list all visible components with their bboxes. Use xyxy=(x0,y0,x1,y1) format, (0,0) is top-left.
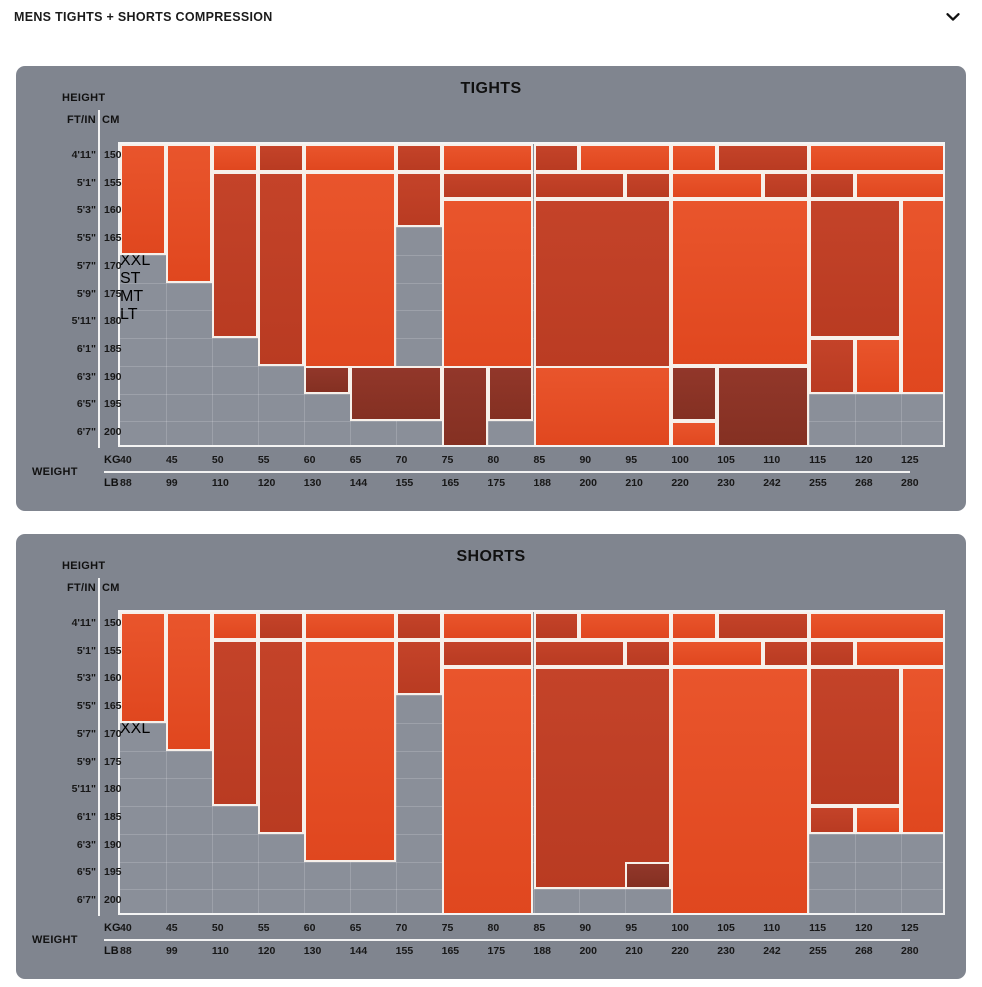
size-region-m[interactable] xyxy=(396,144,442,172)
height-axis-label: HEIGHT xyxy=(62,560,105,572)
size-region-l[interactable] xyxy=(625,640,671,668)
weight-lb-tick: 210 xyxy=(625,945,665,957)
size-region-m[interactable] xyxy=(304,640,396,862)
height-cm-tick: 175 xyxy=(104,756,132,768)
weight-lb-tick: 255 xyxy=(809,945,849,957)
weight-lb-tick: 110 xyxy=(212,945,252,957)
height-cm-tick: 150 xyxy=(104,617,132,629)
size-region-xs[interactable] xyxy=(212,612,258,640)
weight-lb-tick: 130 xyxy=(304,945,344,957)
size-region-xl[interactable] xyxy=(671,612,717,640)
height-axis-divider xyxy=(98,110,100,448)
weight-lb-tick: 88 xyxy=(120,477,160,489)
size-region-m[interactable] xyxy=(442,612,534,640)
weight-lb-tick: 165 xyxy=(442,945,482,957)
weight-lb-tick: 220 xyxy=(671,945,711,957)
height-axis-label: HEIGHT xyxy=(62,92,105,104)
chevron-down-icon[interactable] xyxy=(942,6,964,28)
weight-kg-tick: 70 xyxy=(396,454,436,466)
weight-lb-tick: 268 xyxy=(855,477,895,489)
height-ftin-tick: 4'11" xyxy=(40,149,96,161)
height-cm-tick: 180 xyxy=(104,783,132,795)
height-cm-tick: 165 xyxy=(104,232,132,244)
weight-lb-tick: 175 xyxy=(488,945,528,957)
height-ftin-tick: 5'9" xyxy=(40,756,96,768)
kg-row-header: KG xyxy=(104,922,121,934)
size-region-s[interactable] xyxy=(258,612,304,640)
size-region-xl[interactable] xyxy=(671,640,763,668)
tights-chart-title: TIGHTS xyxy=(16,80,966,98)
size-region-mt[interactable] xyxy=(534,366,672,447)
lb-row-header: LB xyxy=(104,945,119,957)
size-region-m[interactable] xyxy=(442,144,534,172)
size-region-m[interactable] xyxy=(442,667,534,915)
lb-row-header: LB xyxy=(104,477,119,489)
size-region-l[interactable] xyxy=(625,862,671,890)
weight-kg-tick: 80 xyxy=(488,454,528,466)
weight-axis-divider xyxy=(104,939,910,941)
weight-kg-tick: 100 xyxy=(671,454,711,466)
weight-lb-tick: 155 xyxy=(396,945,436,957)
weight-lb-tick: 120 xyxy=(258,945,298,957)
size-region-l[interactable] xyxy=(534,144,580,172)
weight-lb-tick: 120 xyxy=(258,477,298,489)
gridline xyxy=(120,421,943,422)
size-region-lt[interactable] xyxy=(671,366,717,421)
height-ftin-tick: 6'7" xyxy=(40,894,96,906)
size-region-xl[interactable] xyxy=(763,172,809,200)
size-region-l[interactable] xyxy=(579,144,671,172)
size-region-s[interactable] xyxy=(258,144,304,172)
height-cm-tick: 160 xyxy=(104,672,132,684)
size-region-m[interactable] xyxy=(442,640,534,668)
height-cm-tick: 185 xyxy=(104,343,132,355)
height-cm-tick: 170 xyxy=(104,260,132,272)
weight-lb-tick: 99 xyxy=(166,945,206,957)
weight-kg-tick: 70 xyxy=(396,922,436,934)
size-region-xxl[interactable] xyxy=(901,199,945,393)
weight-lb-tick: 188 xyxy=(534,945,574,957)
weight-kg-tick: 105 xyxy=(717,922,757,934)
weight-kg-tick: 75 xyxy=(442,922,482,934)
weight-kg-tick: 40 xyxy=(120,922,160,934)
size-region-xxl[interactable] xyxy=(809,144,945,172)
weight-kg-tick: 40 xyxy=(120,454,160,466)
size-region-xxl[interactable] xyxy=(809,199,901,338)
size-region-mt[interactable] xyxy=(488,366,534,421)
kg-row-header: KG xyxy=(104,454,121,466)
weight-kg-tick: 65 xyxy=(350,454,390,466)
height-ftin-tick: 6'1" xyxy=(40,343,96,355)
size-region-l[interactable] xyxy=(534,612,580,640)
size-region-s[interactable] xyxy=(304,144,396,172)
size-region-lt[interactable] xyxy=(717,366,809,447)
weight-kg-tick: 115 xyxy=(809,454,849,466)
height-cm-tick: 190 xyxy=(104,839,132,851)
height-ftin-tick: 6'7" xyxy=(40,426,96,438)
height-cm-tick: 175 xyxy=(104,288,132,300)
height-cm-tick: 165 xyxy=(104,700,132,712)
height-ftin-tick: 5'1" xyxy=(40,645,96,657)
height-cm-tick: 195 xyxy=(104,398,132,410)
height-cm-tick: 190 xyxy=(104,371,132,383)
weight-lb-tick: 110 xyxy=(212,477,252,489)
weight-lb-tick: 268 xyxy=(855,945,895,957)
size-region-l[interactable] xyxy=(534,640,626,668)
size-region-xxl[interactable] xyxy=(855,806,901,834)
size-region-xxl[interactable] xyxy=(855,338,901,393)
shorts-size-grid[interactable]: XXSXSSMLXLXXL xyxy=(118,610,945,915)
weight-kg-tick: 125 xyxy=(901,454,941,466)
size-region-l[interactable] xyxy=(579,612,671,640)
height-ftin-tick: 5'11" xyxy=(40,783,96,795)
shorts-chart-title: SHORTS xyxy=(16,548,966,566)
weight-kg-tick: 85 xyxy=(534,922,574,934)
size-region-s[interactable] xyxy=(212,640,258,806)
size-region-st[interactable] xyxy=(304,366,350,394)
weight-lb-tick: 88 xyxy=(120,945,160,957)
weight-lb-tick: 99 xyxy=(166,477,206,489)
size-region-s[interactable] xyxy=(212,172,258,338)
weight-kg-tick: 60 xyxy=(304,922,344,934)
height-ftin-tick: 5'7" xyxy=(40,260,96,272)
page-title: MENS TIGHTS + SHORTS COMPRESSION xyxy=(14,10,273,24)
weight-kg-tick: 45 xyxy=(166,922,206,934)
weight-kg-tick: 95 xyxy=(625,922,665,934)
height-ftin-tick: 5'1" xyxy=(40,177,96,189)
ftin-column-header: FT/IN xyxy=(40,114,96,126)
height-axis-divider xyxy=(98,578,100,916)
size-region-m[interactable] xyxy=(442,199,534,393)
weight-kg-tick: 115 xyxy=(809,922,849,934)
weight-kg-tick: 110 xyxy=(763,922,803,934)
size-region-xxl[interactable] xyxy=(809,640,855,668)
weight-kg-tick: 125 xyxy=(901,922,941,934)
size-region-xl[interactable] xyxy=(671,172,763,200)
weight-kg-tick: 85 xyxy=(534,454,574,466)
cm-column-header: CM xyxy=(102,582,130,594)
ftin-column-header: FT/IN xyxy=(40,582,96,594)
size-region-xxl[interactable] xyxy=(855,640,945,668)
weight-kg-tick: 50 xyxy=(212,454,252,466)
weight-kg-tick: 60 xyxy=(304,454,344,466)
height-cm-tick: 155 xyxy=(104,645,132,657)
size-region-xxl[interactable] xyxy=(855,172,945,200)
size-region-xl[interactable] xyxy=(671,144,717,172)
weight-lb-tick: 210 xyxy=(625,477,665,489)
weight-kg-tick: 105 xyxy=(717,454,757,466)
weight-lb-tick: 175 xyxy=(488,477,528,489)
size-region-xl[interactable] xyxy=(717,612,809,640)
size-region-m[interactable] xyxy=(304,172,396,394)
size-region-xxl[interactable] xyxy=(809,172,855,200)
height-ftin-tick: 5'9" xyxy=(40,288,96,300)
height-cm-tick: 200 xyxy=(104,426,132,438)
size-region-st[interactable] xyxy=(442,366,488,447)
height-ftin-tick: 5'5" xyxy=(40,232,96,244)
tights-chart-panel: TIGHTS HEIGHT FT/IN CM WEIGHT KG LB XXSX… xyxy=(16,66,966,511)
size-region-l[interactable] xyxy=(625,172,671,200)
weight-kg-tick: 75 xyxy=(442,454,482,466)
weight-lb-tick: 230 xyxy=(717,945,757,957)
height-cm-tick: 150 xyxy=(104,149,132,161)
size-region-l[interactable] xyxy=(534,667,672,889)
weight-lb-tick: 220 xyxy=(671,477,711,489)
size-region-m[interactable] xyxy=(396,640,442,695)
weight-lb-tick: 188 xyxy=(534,477,574,489)
weight-lb-tick: 230 xyxy=(717,477,757,489)
size-region-l[interactable] xyxy=(534,199,672,393)
size-region-xxl[interactable] xyxy=(901,667,945,833)
weight-lb-tick: 200 xyxy=(579,945,619,957)
height-cm-tick: 195 xyxy=(104,866,132,878)
size-region-st[interactable] xyxy=(350,366,442,421)
size-region-s[interactable] xyxy=(304,612,396,640)
cm-column-header: CM xyxy=(102,114,130,126)
weight-lb-tick: 144 xyxy=(350,477,390,489)
weight-lb-tick: 144 xyxy=(350,945,390,957)
tights-size-grid[interactable]: XXSXSSMLXLXXLSTMTLT xyxy=(118,142,945,447)
height-ftin-tick: 5'5" xyxy=(40,700,96,712)
height-cm-tick: 155 xyxy=(104,177,132,189)
size-region-xxl[interactable] xyxy=(809,667,901,806)
size-region-xl[interactable] xyxy=(763,640,809,668)
size-region-xl[interactable] xyxy=(671,199,809,365)
height-ftin-tick: 6'5" xyxy=(40,866,96,878)
weight-lb-tick: 255 xyxy=(809,477,849,489)
shorts-chart-panel: SHORTS HEIGHT FT/IN CM WEIGHT KG LB XXSX… xyxy=(16,534,966,979)
height-cm-tick: 160 xyxy=(104,204,132,216)
weight-lb-tick: 200 xyxy=(579,477,619,489)
weight-lb-tick: 242 xyxy=(763,477,803,489)
weight-axis-label: WEIGHT xyxy=(32,934,78,946)
accordion-header[interactable]: MENS TIGHTS + SHORTS COMPRESSION xyxy=(0,0,982,34)
size-region-xl[interactable] xyxy=(717,144,809,172)
weight-kg-tick: 55 xyxy=(258,454,298,466)
size-region-m[interactable] xyxy=(442,172,534,200)
height-ftin-tick: 6'1" xyxy=(40,811,96,823)
height-ftin-tick: 4'11" xyxy=(40,617,96,629)
weight-lb-tick: 242 xyxy=(763,945,803,957)
height-ftin-tick: 6'3" xyxy=(40,371,96,383)
size-region-xxl[interactable] xyxy=(809,612,945,640)
weight-kg-tick: 120 xyxy=(855,454,895,466)
size-region-l[interactable] xyxy=(534,172,626,200)
size-region-xs[interactable] xyxy=(166,144,212,283)
size-region-s[interactable] xyxy=(258,172,304,366)
height-cm-tick: 185 xyxy=(104,811,132,823)
height-ftin-tick: 5'11" xyxy=(40,315,96,327)
size-region-xl[interactable] xyxy=(671,667,809,915)
height-ftin-tick: 5'7" xyxy=(40,728,96,740)
weight-kg-tick: 120 xyxy=(855,922,895,934)
size-region-s[interactable] xyxy=(258,640,304,834)
size-region-xxl[interactable] xyxy=(809,806,855,834)
weight-kg-tick: 90 xyxy=(579,454,619,466)
weight-kg-tick: 90 xyxy=(579,922,619,934)
height-ftin-tick: 6'3" xyxy=(40,839,96,851)
weight-kg-tick: 95 xyxy=(625,454,665,466)
height-cm-tick: 200 xyxy=(104,894,132,906)
height-cm-tick: 180 xyxy=(104,315,132,327)
weight-kg-tick: 80 xyxy=(488,922,528,934)
size-region-m[interactable] xyxy=(396,612,442,640)
weight-kg-tick: 55 xyxy=(258,922,298,934)
weight-axis-label: WEIGHT xyxy=(32,466,78,478)
weight-lb-tick: 155 xyxy=(396,477,436,489)
weight-lb-tick: 130 xyxy=(304,477,344,489)
weight-lb-tick: 165 xyxy=(442,477,482,489)
weight-kg-tick: 100 xyxy=(671,922,711,934)
height-ftin-tick: 5'3" xyxy=(40,204,96,216)
weight-lb-tick: 280 xyxy=(901,477,941,489)
size-region-xs[interactable] xyxy=(166,612,212,751)
weight-kg-tick: 45 xyxy=(166,454,206,466)
weight-kg-tick: 50 xyxy=(212,922,252,934)
weight-kg-tick: 110 xyxy=(763,454,803,466)
weight-lb-tick: 280 xyxy=(901,945,941,957)
size-region-m[interactable] xyxy=(396,172,442,227)
height-ftin-tick: 5'3" xyxy=(40,672,96,684)
size-region-xs[interactable] xyxy=(212,144,258,172)
size-region-lt[interactable] xyxy=(671,421,717,447)
weight-axis-divider xyxy=(104,471,910,473)
size-region-xxl[interactable] xyxy=(809,338,855,393)
height-cm-tick: 170 xyxy=(104,728,132,740)
weight-kg-tick: 65 xyxy=(350,922,390,934)
height-ftin-tick: 6'5" xyxy=(40,398,96,410)
